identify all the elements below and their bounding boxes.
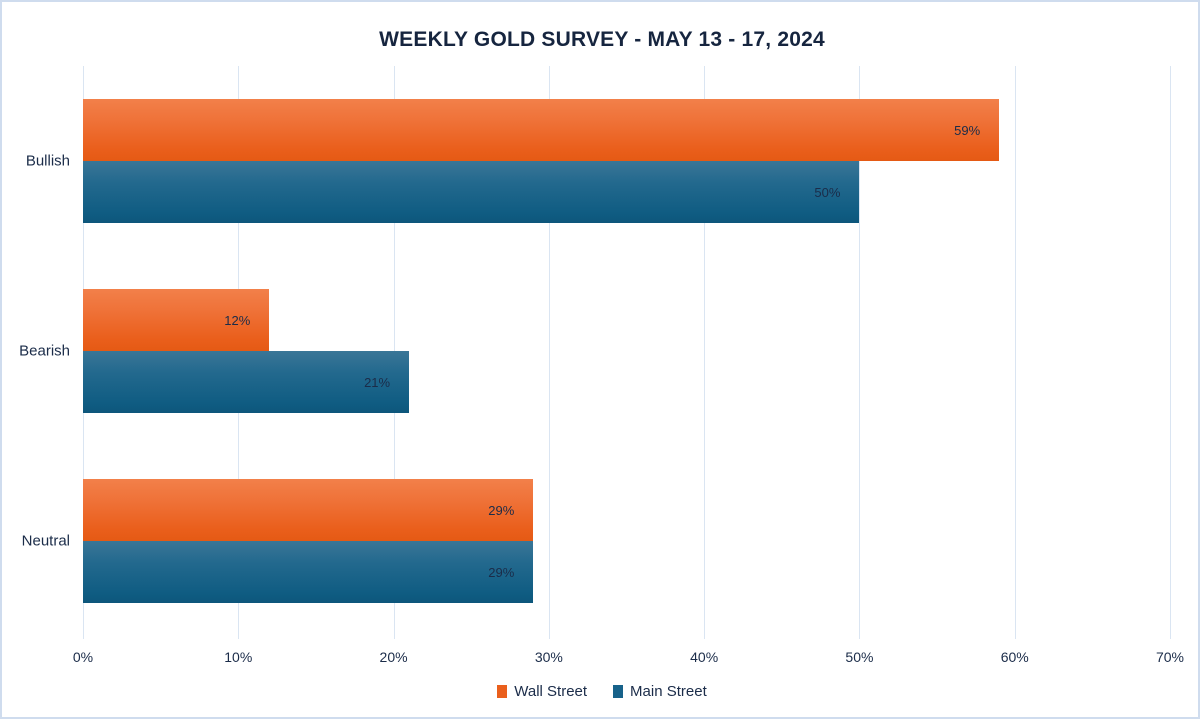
legend-swatch-icon	[613, 685, 623, 698]
bar-wall-street-neutral[interactable]: 29%	[83, 479, 533, 541]
bar-wall-street-bearish[interactable]: 12%	[83, 289, 269, 351]
bar-value-label: 12%	[224, 314, 269, 327]
legend: Wall StreetMain Street	[2, 683, 1200, 700]
chart-container: WEEKLY GOLD SURVEY - MAY 13 - 17, 2024 5…	[0, 0, 1200, 719]
bar-group-bullish: 59%50%	[83, 99, 1170, 223]
bar-value-label: 29%	[488, 566, 533, 579]
x-tick-label: 30%	[535, 649, 563, 665]
bar-main-street-bearish[interactable]: 21%	[83, 351, 409, 413]
bar-group-bearish: 12%21%	[83, 289, 1170, 413]
bar-row: 59%	[83, 99, 1170, 161]
bar-value-label: 50%	[814, 186, 859, 199]
bar-row: 12%	[83, 289, 1170, 351]
gridline-70pct	[1170, 66, 1171, 639]
bar-row: 29%	[83, 479, 1170, 541]
bar-value-label: 59%	[954, 124, 999, 137]
category-label-bullish: Bullish	[2, 153, 70, 170]
legend-item-wall-street[interactable]: Wall Street	[497, 683, 587, 700]
legend-label: Wall Street	[514, 683, 587, 700]
bar-row: 29%	[83, 541, 1170, 603]
category-label-neutral: Neutral	[2, 533, 70, 550]
x-tick-label: 40%	[690, 649, 718, 665]
category-label-bearish: Bearish	[2, 343, 70, 360]
chart-title: WEEKLY GOLD SURVEY - MAY 13 - 17, 2024	[2, 28, 1200, 52]
x-tick-label: 50%	[845, 649, 873, 665]
bar-row: 21%	[83, 351, 1170, 413]
x-tick-label: 10%	[224, 649, 252, 665]
x-tick-label: 70%	[1156, 649, 1184, 665]
legend-swatch-icon	[497, 685, 507, 698]
plot-area: 59%50%12%21%29%29% BullishBearishNeutral…	[83, 66, 1170, 639]
bar-main-street-neutral[interactable]: 29%	[83, 541, 533, 603]
legend-label: Main Street	[630, 683, 707, 700]
bar-row: 50%	[83, 161, 1170, 223]
x-tick-label: 20%	[380, 649, 408, 665]
bar-value-label: 21%	[364, 376, 409, 389]
legend-item-main-street[interactable]: Main Street	[613, 683, 707, 700]
bar-value-label: 29%	[488, 504, 533, 517]
bar-wall-street-bullish[interactable]: 59%	[83, 99, 999, 161]
x-tick-label: 60%	[1001, 649, 1029, 665]
x-tick-label: 0%	[73, 649, 93, 665]
bar-main-street-bullish[interactable]: 50%	[83, 161, 859, 223]
bar-group-neutral: 29%29%	[83, 479, 1170, 603]
